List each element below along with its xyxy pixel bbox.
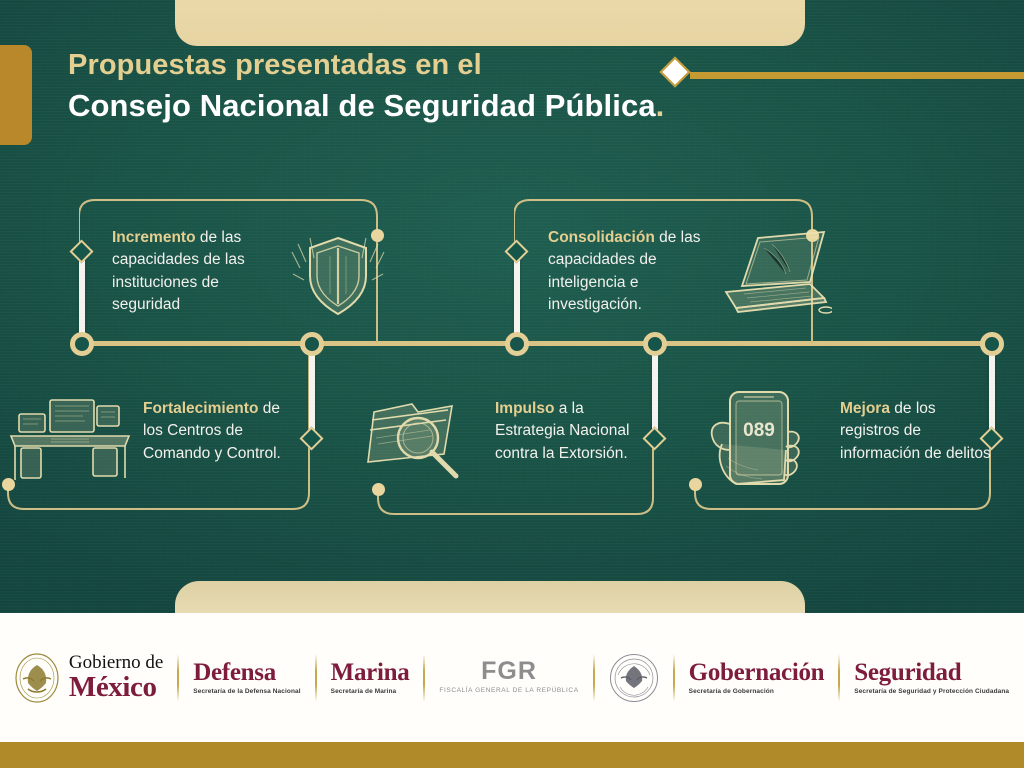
timeline-node-5 bbox=[980, 332, 1004, 356]
title-line-2-text: Consejo Nacional de Seguridad Pública bbox=[68, 88, 656, 123]
top-tan-decoration bbox=[175, 0, 805, 46]
card-consolidacion-text: Consolidación de las capacidades de inte… bbox=[548, 227, 708, 317]
defensa-sub: Secretaría de la Defensa Nacional bbox=[193, 688, 300, 695]
timeline-node-1 bbox=[70, 332, 94, 356]
marina-sub: Secretaría de Marina bbox=[331, 688, 410, 695]
left-gold-tab-decoration bbox=[0, 45, 32, 145]
card-fortalecimiento-text: Fortalecimiento de los Centros de Comand… bbox=[143, 398, 303, 465]
gobernacion-sub: Secretaría de Gobernación bbox=[689, 688, 825, 695]
timeline-node-3 bbox=[505, 332, 529, 356]
hand-phone-icon: 089 bbox=[692, 388, 814, 498]
card-consolidacion-lead: Consolidación bbox=[548, 229, 655, 246]
logo-defensa[interactable]: Defensa Secretaría de la Defensa Naciona… bbox=[179, 649, 314, 707]
infographic-slide: Propuestas presentadas en el Consejo Nac… bbox=[0, 0, 1024, 768]
card-impulso-lead: Impulso bbox=[495, 400, 554, 417]
title-period: . bbox=[656, 88, 665, 123]
logo-gobierno-de-mexico[interactable]: Gobierno de México bbox=[1, 649, 177, 707]
gobierno-line1: Gobierno de bbox=[69, 653, 163, 672]
gobernacion-name: Gobernación bbox=[689, 660, 825, 686]
gold-rule bbox=[690, 72, 1024, 79]
phone-number-089: 089 bbox=[743, 420, 775, 441]
mexican-eagle-seal-icon bbox=[15, 653, 59, 703]
card-incremento-text: Incremento de las capacidades de las ins… bbox=[112, 227, 290, 317]
logo-seguridad[interactable]: Seguridad Secretaría de Seguridad y Prot… bbox=[840, 649, 1023, 707]
gobierno-line2: México bbox=[69, 672, 163, 702]
seguridad-sub: Secretaría de Seguridad y Protección Ciu… bbox=[854, 688, 1009, 695]
shield-icon bbox=[290, 228, 386, 324]
card-impulso-dot bbox=[372, 483, 385, 496]
guardia-nacional-seal-icon bbox=[609, 653, 659, 703]
seguridad-name: Seguridad bbox=[854, 660, 1009, 686]
timeline-stem-up-2 bbox=[514, 250, 520, 338]
defensa-name: Defensa bbox=[193, 660, 300, 686]
timeline-stem-down-4 bbox=[652, 348, 658, 438]
timeline-stem-down-3 bbox=[309, 348, 315, 438]
bottom-gold-bar bbox=[0, 742, 1024, 768]
folder-magnifier-icon bbox=[360, 392, 480, 484]
timeline-node-4 bbox=[643, 332, 667, 356]
laptop-icon bbox=[714, 228, 832, 323]
logo-fgr[interactable]: FGR FISCALÍA GENERAL DE LA REPÚBLICA bbox=[425, 649, 592, 707]
title-line-2: Consejo Nacional de Seguridad Pública. bbox=[68, 87, 664, 124]
page-title: Propuestas presentadas en el Consejo Nac… bbox=[68, 48, 664, 124]
footer-logo-bar: Gobierno de México Defensa Secretaría de… bbox=[0, 613, 1024, 742]
fgr-name: FGR bbox=[439, 659, 578, 684]
title-line-1: Propuestas presentadas en el bbox=[68, 48, 664, 82]
logo-marina[interactable]: Marina Secretaría de Marina bbox=[317, 649, 424, 707]
logo-gobernacion[interactable]: Gobernación Secretaría de Gobernación bbox=[675, 649, 839, 707]
timeline-stem-up-1 bbox=[79, 250, 85, 338]
card-impulso-text: Impulso a la Estrategia Nacional contra … bbox=[495, 398, 645, 465]
logo-guardia-nacional[interactable] bbox=[595, 649, 673, 707]
fgr-sub: FISCALÍA GENERAL DE LA REPÚBLICA bbox=[439, 687, 578, 695]
card-fortalecimiento-lead: Fortalecimiento bbox=[143, 400, 258, 417]
command-center-desk-icon bbox=[5, 392, 135, 487]
card-mejora-text: Mejora de los registros de información d… bbox=[840, 398, 995, 465]
card-incremento-lead: Incremento bbox=[112, 229, 196, 246]
timeline-node-2 bbox=[300, 332, 324, 356]
card-mejora-lead: Mejora bbox=[840, 400, 890, 417]
marina-name: Marina bbox=[331, 660, 410, 686]
